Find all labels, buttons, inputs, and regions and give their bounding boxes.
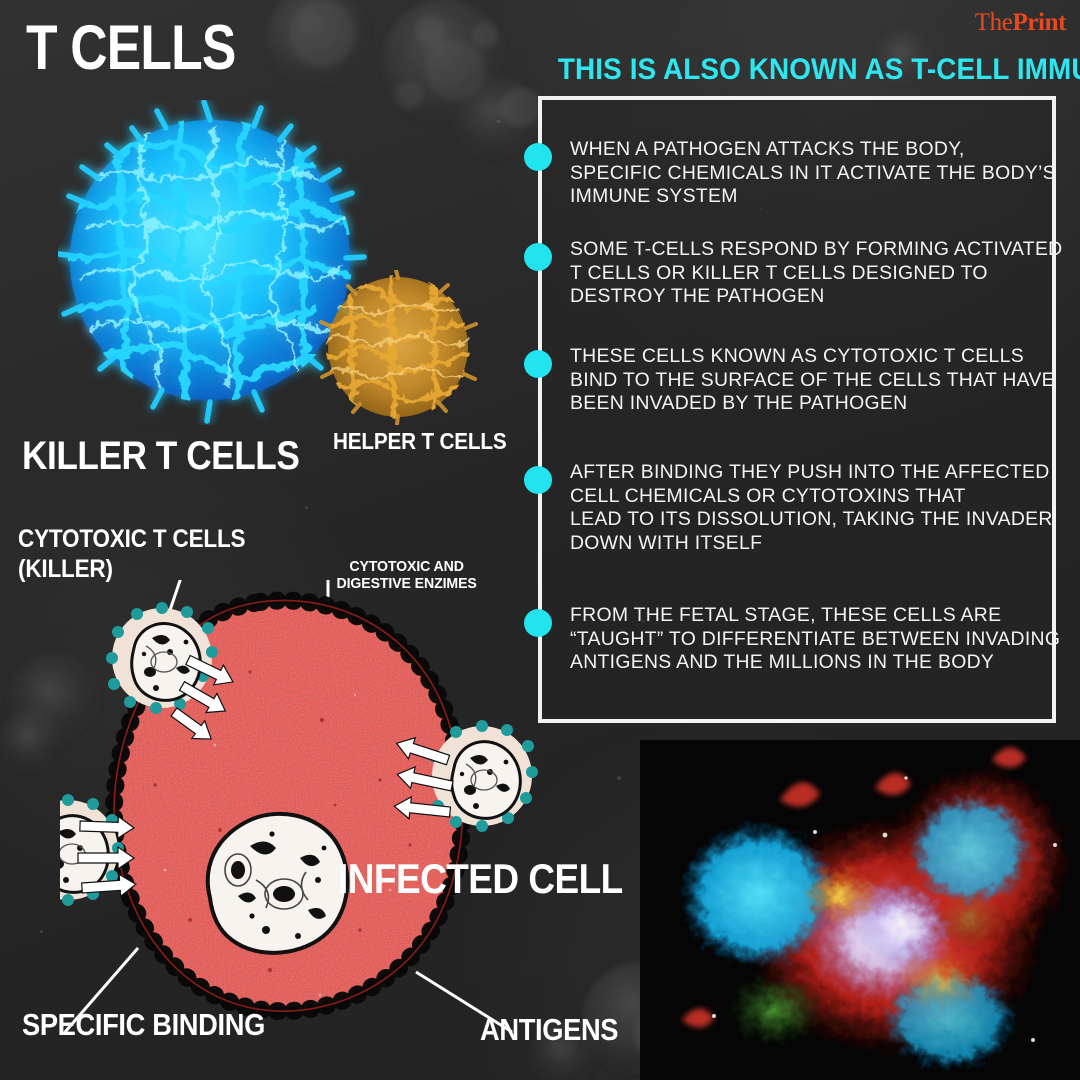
bullet-text: WHEN A PATHOGEN ATTACKS THE BODY, SPECIF… <box>570 138 1070 209</box>
label-killer-t-cells: KILLER T CELLS <box>22 434 299 479</box>
label-cytotoxic-t-cells: CYTOTOXIC T CELLS (KILLER) <box>18 524 245 584</box>
bullet-text: AFTER BINDING THEY PUSH INTO THE AFFECTE… <box>570 461 1070 555</box>
infected-cell-nucleus <box>208 814 348 953</box>
brand-logo: ThePrint <box>975 9 1066 37</box>
logo-print: Print <box>1012 9 1066 36</box>
fluorescence-microscopy-image <box>640 740 1080 1080</box>
bullet-text: FROM THE FETAL STAGE, THESE CELLS ARE “T… <box>570 604 1070 675</box>
label-infected-cell: INFECTED CELL <box>338 855 623 903</box>
label-cytotoxic-enzymes: CYTOTOXIC AND DIGESTIVE ENZIMES <box>322 558 491 592</box>
bullet-text: THESE CELLS KNOWN AS CYTOTOXIC T CELLS B… <box>570 345 1070 416</box>
infected-cell-diagram <box>60 580 580 1040</box>
bullet-dot-icon <box>524 466 552 494</box>
bullet-text: SOME T-CELLS RESPOND BY FORMING ACTIVATE… <box>570 238 1070 309</box>
bullet-dot-icon <box>524 350 552 378</box>
label-antigens: ANTIGENS <box>480 1012 618 1048</box>
bullet-dot-icon <box>524 243 552 271</box>
bullet-dot-icon <box>524 143 552 171</box>
label-helper-t-cells: HELPER T CELLS <box>333 428 506 455</box>
page-title: T CELLS <box>26 18 236 78</box>
bullet-dot-icon <box>524 609 552 637</box>
page-subtitle: THIS IS ALSO KNOWN AS T-CELL IMMUNITY <box>558 53 1075 87</box>
helper-t-cell-illustration <box>318 270 478 425</box>
label-specific-binding: SPECIFIC BINDING <box>22 1007 265 1043</box>
logo-the: The <box>975 9 1013 36</box>
